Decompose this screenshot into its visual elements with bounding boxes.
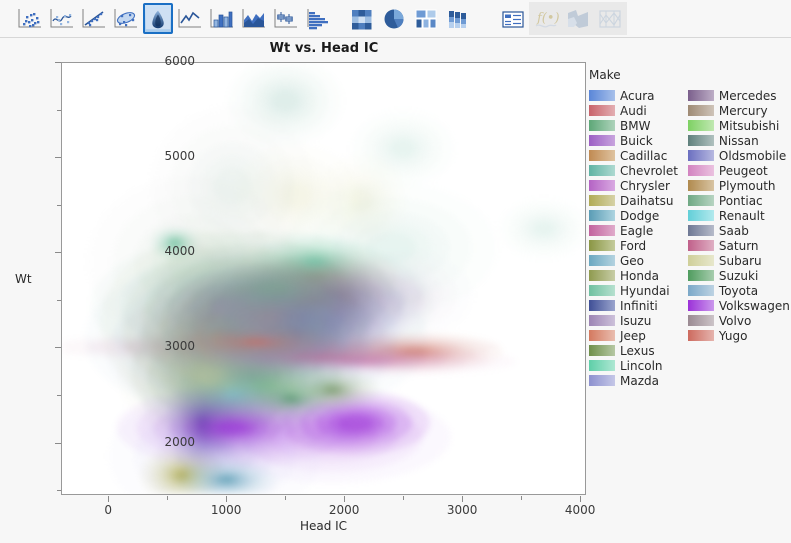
legend-color-swatch <box>688 330 714 341</box>
legend-color-swatch <box>589 300 615 311</box>
legend-item[interactable]: Audi <box>589 103 678 118</box>
legend-color-swatch <box>688 120 714 131</box>
legend-color-swatch <box>589 375 615 386</box>
legend-item-label: Chrysler <box>620 179 670 193</box>
x-axis-label: Head IC <box>61 519 586 533</box>
legend-color-swatch <box>688 150 714 161</box>
x-axis-tick <box>226 496 227 502</box>
legend-item[interactable]: Suzuki <box>688 268 790 283</box>
legend-item-label: Lincoln <box>620 359 663 373</box>
y-axis-label: Wt <box>15 272 32 286</box>
x-axis-tick <box>108 496 109 502</box>
x-axis-minor-tick <box>285 496 286 500</box>
legend-item[interactable]: BMW <box>589 118 678 133</box>
x-axis-tick-label: 0 <box>73 503 143 517</box>
x-axis-minor-tick <box>521 496 522 500</box>
legend-color-swatch <box>589 180 615 191</box>
legend-item[interactable]: Dodge <box>589 208 678 223</box>
y-axis-tick <box>55 62 61 63</box>
legend-item-label: Lexus <box>620 344 655 358</box>
legend-item[interactable]: Lexus <box>589 343 678 358</box>
legend-color-swatch <box>688 315 714 326</box>
legend-item[interactable]: Mitsubishi <box>688 118 790 133</box>
legend-color-swatch <box>688 105 714 116</box>
data-table-icon[interactable] <box>498 3 528 34</box>
pie-chart-icon[interactable] <box>379 3 409 34</box>
legend-item-label: Peugeot <box>719 164 768 178</box>
x-axis-tick <box>580 496 581 502</box>
legend-color-swatch <box>688 180 714 191</box>
y-axis-tick-label: 3000 <box>135 339 195 353</box>
legend-color-swatch <box>688 135 714 146</box>
heatmap-icon[interactable] <box>347 3 377 34</box>
legend-color-swatch <box>589 225 615 236</box>
legend-color-swatch <box>589 285 615 296</box>
legend-color-swatch <box>589 255 615 266</box>
legend-item[interactable]: Buick <box>589 133 678 148</box>
histogram-icon[interactable] <box>303 3 333 34</box>
ellipse-icon[interactable] <box>111 3 141 34</box>
x-axis-minor-tick <box>403 496 404 500</box>
legend-item-label: Mercedes <box>719 89 777 103</box>
legend-item-label: Renault <box>719 209 765 223</box>
legend-item-label: BMW <box>620 119 650 133</box>
legend-item-label: Chevrolet <box>620 164 678 178</box>
legend-column-1: AcuraAudiBMWBuickCadillacChevroletChrysl… <box>589 88 678 388</box>
legend-item[interactable]: Volkswagen <box>688 298 790 313</box>
legend-item-label: Saturn <box>719 239 759 253</box>
legend-color-swatch <box>688 270 714 281</box>
legend-item-label: Buick <box>620 134 653 148</box>
legend-color-swatch <box>589 135 615 146</box>
legend-item-label: Nissan <box>719 134 759 148</box>
legend-item-label: Mitsubishi <box>719 119 779 133</box>
legend-color-swatch <box>589 360 615 371</box>
x-axis-tick-label: 4000 <box>545 503 615 517</box>
legend-item-label: Mazda <box>620 374 659 388</box>
legend-color-swatch <box>688 195 714 206</box>
legend-item-label: Suzuki <box>719 269 758 283</box>
legend-item[interactable]: Subaru <box>688 253 790 268</box>
legend-item[interactable]: Pontiac <box>688 193 790 208</box>
legend-color-swatch <box>589 120 615 131</box>
legend-item[interactable]: Jeep <box>589 328 678 343</box>
legend-item-label: Toyota <box>719 284 758 298</box>
y-axis-minor-tick <box>57 490 61 491</box>
legend-item-label: Cadillac <box>620 149 667 163</box>
y-axis-tick <box>55 347 61 348</box>
legend-color-swatch <box>688 225 714 236</box>
legend-item-label: Audi <box>620 104 647 118</box>
legend-color-swatch <box>589 315 615 326</box>
legend-color-swatch <box>688 255 714 266</box>
legend-color-swatch <box>589 90 615 101</box>
legend-column-2: MercedesMercuryMitsubishiNissanOldsmobil… <box>688 88 790 388</box>
legend-item-label: Honda <box>620 269 659 283</box>
legend-item-label: Volvo <box>719 314 751 328</box>
legend-item[interactable]: Hyundai <box>589 283 678 298</box>
x-axis-tick <box>344 496 345 502</box>
y-axis-minor-tick <box>57 395 61 396</box>
line-chart-icon[interactable] <box>175 3 205 34</box>
formula-icon: f(•) <box>531 3 561 34</box>
x-axis-tick-label: 1000 <box>191 503 261 517</box>
legend-color-swatch <box>589 150 615 161</box>
legend-item-label: Yugo <box>719 329 748 343</box>
legend-item-label: Daihatsu <box>620 194 673 208</box>
legend-item[interactable]: Mercedes <box>688 88 790 103</box>
legend-item[interactable]: Eagle <box>589 223 678 238</box>
svg-text:f(•): f(•) <box>536 11 560 26</box>
legend-item[interactable]: Saab <box>688 223 790 238</box>
density-contour-canvas <box>62 63 585 494</box>
disabled-tools-group: f(•) <box>529 2 627 35</box>
contour-icon[interactable] <box>143 3 173 34</box>
chart-type-toolbar: f(•) <box>0 0 791 38</box>
legend-item[interactable]: Plymouth <box>688 178 790 193</box>
legend-item[interactable]: Cadillac <box>589 148 678 163</box>
legend-item-label: Dodge <box>620 209 659 223</box>
x-axis-tick-label: 3000 <box>427 503 497 517</box>
legend-item-label: Volkswagen <box>719 299 790 313</box>
legend-color-swatch <box>589 105 615 116</box>
legend-item[interactable]: Peugeot <box>688 163 790 178</box>
legend-color-swatch <box>589 210 615 221</box>
smoother-icon[interactable] <box>47 3 77 34</box>
regression-line-icon[interactable] <box>79 3 109 34</box>
legend-color-swatch <box>589 270 615 281</box>
legend-item[interactable]: Isuzu <box>589 313 678 328</box>
y-axis-minor-tick <box>57 300 61 301</box>
legend-item[interactable]: Ford <box>589 238 678 253</box>
legend-item-label: Geo <box>620 254 644 268</box>
legend-item[interactable]: Honda <box>589 268 678 283</box>
y-axis-tick <box>55 252 61 253</box>
legend-color-swatch <box>688 210 714 221</box>
legend-item-label: Ford <box>620 239 646 253</box>
legend-color-swatch <box>688 240 714 251</box>
legend-item-label: Pontiac <box>719 194 763 208</box>
legend-item-label: Infiniti <box>620 299 658 313</box>
legend-item[interactable]: Oldsmobile <box>688 148 790 163</box>
y-axis-minor-tick <box>57 205 61 206</box>
legend-item[interactable]: Volvo <box>688 313 790 328</box>
legend-color-swatch <box>589 345 615 356</box>
y-axis-tick-label: 4000 <box>135 244 195 258</box>
legend-item-label: Mercury <box>719 104 768 118</box>
legend-color-swatch <box>688 300 714 311</box>
legend-item-label: Isuzu <box>620 314 651 328</box>
legend-item-label: Jeep <box>620 329 646 343</box>
treemap-icon[interactable] <box>411 3 441 34</box>
legend-item-label: Subaru <box>719 254 762 268</box>
legend-item-label: Plymouth <box>719 179 776 193</box>
legend-item[interactable]: Mazda <box>589 373 678 388</box>
bar-chart-icon[interactable] <box>207 3 237 34</box>
legend-color-swatch <box>688 285 714 296</box>
legend-title: Make <box>589 68 789 82</box>
y-axis-tick-label: 5000 <box>135 149 195 163</box>
box-plot-icon[interactable] <box>271 3 301 34</box>
x-axis-tick-label: 2000 <box>309 503 379 517</box>
legend-item[interactable]: Mercury <box>688 103 790 118</box>
legend-item-label: Hyundai <box>620 284 670 298</box>
parallel-plot-icon <box>595 3 625 34</box>
legend-item[interactable]: Lincoln <box>589 358 678 373</box>
legend-item-label: Acura <box>620 89 655 103</box>
x-axis-tick <box>462 496 463 502</box>
legend-item[interactable]: Geo <box>589 253 678 268</box>
legend-item-label: Oldsmobile <box>719 149 786 163</box>
legend-color-swatch <box>589 240 615 251</box>
scatter-plot-icon[interactable] <box>15 3 45 34</box>
y-axis-tick <box>55 443 61 444</box>
legend-item[interactable]: Chrysler <box>589 178 678 193</box>
y-axis-tick-label: 6000 <box>135 54 195 68</box>
chart-window: f(•) Wt vs. Head IC Wt Head IC 200030004… <box>0 0 791 543</box>
legend-item[interactable]: Saturn <box>688 238 790 253</box>
legend-item[interactable]: Acura <box>589 88 678 103</box>
legend-item[interactable]: Toyota <box>688 283 790 298</box>
legend-item[interactable]: Renault <box>688 208 790 223</box>
legend-color-swatch <box>589 195 615 206</box>
legend-color-swatch <box>688 165 714 176</box>
plot-area[interactable] <box>61 62 586 495</box>
legend-item-label: Eagle <box>620 224 653 238</box>
area-chart-icon[interactable] <box>239 3 269 34</box>
legend-item[interactable]: Nissan <box>688 133 790 148</box>
legend-item[interactable]: Yugo <box>688 328 790 343</box>
x-axis-minor-tick <box>167 496 168 500</box>
y-axis-tick-label: 2000 <box>135 435 195 449</box>
y-axis-minor-tick <box>57 110 61 111</box>
legend-item[interactable]: Chevrolet <box>589 163 678 178</box>
legend-item[interactable]: Infiniti <box>589 298 678 313</box>
legend-color-swatch <box>688 90 714 101</box>
legend-color-swatch <box>589 165 615 176</box>
legend-item-label: Saab <box>719 224 749 238</box>
stacked-bar-icon[interactable] <box>443 3 473 34</box>
legend-item[interactable]: Daihatsu <box>589 193 678 208</box>
map-icon <box>563 3 593 34</box>
legend-color-swatch <box>589 330 615 341</box>
y-axis-tick <box>55 157 61 158</box>
legend: Make AcuraAudiBMWBuickCadillacChevroletC… <box>589 68 789 388</box>
